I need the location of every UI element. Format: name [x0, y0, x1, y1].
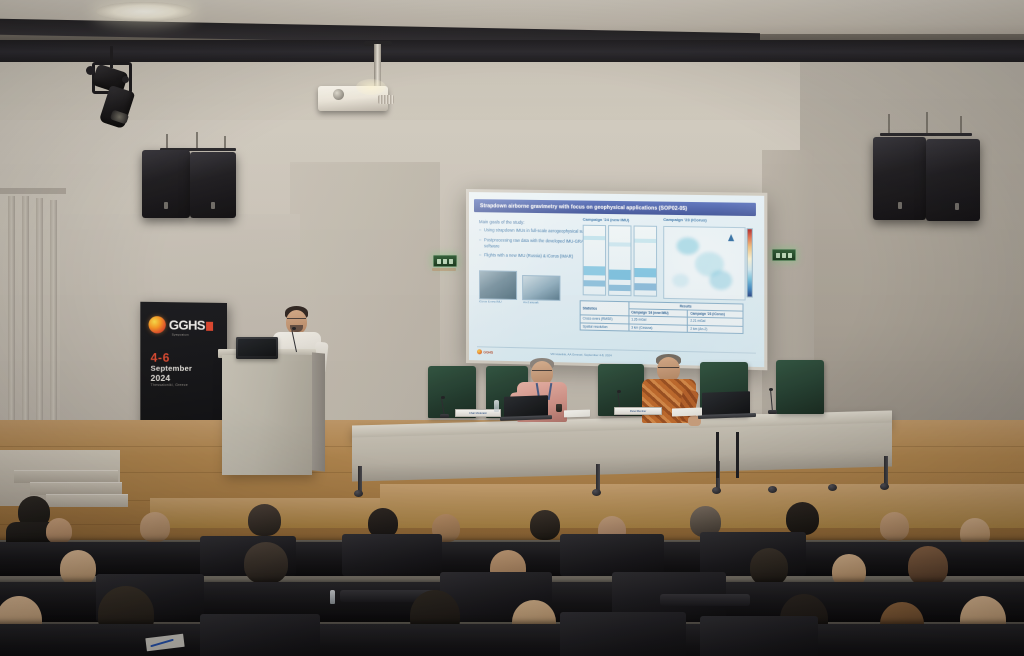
seat-armrest	[660, 594, 750, 606]
panelist-right-glasses	[658, 367, 679, 370]
table-caster	[880, 483, 889, 490]
slide-footer-text: VIII Hotelink, AA Gennari, September 4-8…	[550, 351, 611, 356]
audience-head	[908, 546, 948, 586]
banner-wordmark-text: GGHS	[169, 317, 205, 332]
slide-thumb-aircraft	[522, 275, 560, 301]
audience-head	[140, 512, 170, 542]
seat-back	[560, 612, 686, 656]
projector-vent	[378, 95, 394, 104]
gghs-globe-icon	[477, 349, 482, 354]
speaker-right-b	[926, 139, 980, 221]
chart-heading-23: Campaign '23 (iCorus)	[663, 217, 706, 223]
spotlight-knob	[122, 76, 129, 83]
map-anomaly	[672, 274, 688, 287]
panel-mic-base	[768, 410, 777, 414]
audience-head	[530, 510, 560, 540]
north-arrow-icon	[728, 234, 734, 241]
auditorium-photo: Strapdown airborne gravimetry with focus…	[0, 0, 1024, 656]
chair-leg	[716, 432, 719, 478]
audience-head	[786, 502, 819, 535]
audience-head	[750, 548, 788, 586]
panel-mic-head	[441, 396, 445, 399]
exit-sign-left-sub	[432, 268, 456, 271]
map-anomaly	[677, 237, 700, 255]
speaker-logo	[955, 203, 959, 210]
profile-strip-2	[608, 225, 631, 296]
globe-icon	[149, 316, 166, 333]
panel-mic-head	[617, 390, 621, 393]
table-leg	[358, 466, 362, 492]
table-leg	[884, 456, 888, 486]
banner-badge	[206, 322, 213, 331]
speaker-logo	[898, 202, 902, 209]
gghs-wordmark: GGHS	[483, 350, 493, 354]
papers	[564, 410, 590, 418]
panel-mic-head	[769, 388, 773, 391]
exit-glyph	[449, 259, 453, 264]
wall-trim	[0, 188, 66, 194]
panelist-left-glasses	[532, 370, 552, 373]
row-val-a: 3 km (Cessna)	[629, 324, 688, 333]
exit-sign-left	[433, 255, 457, 267]
row-val-b: 2 km (An-2)	[688, 325, 743, 333]
nameplate-1-text: Chair Moderator	[469, 412, 487, 415]
podium-side	[312, 352, 325, 471]
gravity-anomaly-map	[663, 226, 745, 301]
table-leg	[596, 464, 600, 492]
nameplate-2-text: Panel Member	[630, 410, 646, 413]
banner-wordmark: GGHS	[169, 317, 213, 333]
projection-screen: Strapdown airborne gravimetry with focus…	[466, 189, 767, 370]
exit-glyph	[443, 259, 447, 264]
slide-thumb-caption: An-2 aircraft	[523, 300, 538, 304]
chart-heading-24: Campaign '24 (new IMU)	[583, 217, 630, 223]
seat-back	[700, 616, 818, 656]
map-colorbar	[747, 228, 753, 297]
panel-chair-5	[776, 360, 824, 414]
chair-leg	[736, 432, 739, 478]
row-stat: Spatial resolution	[580, 322, 628, 330]
spotlight-knob	[86, 66, 95, 75]
audience-bottle	[330, 590, 335, 604]
map-anomaly	[709, 270, 732, 290]
projector-lens	[333, 89, 344, 100]
speaker-bracket	[880, 133, 972, 136]
presentation-slide: Strapdown airborne gravimetry with focus…	[469, 192, 764, 367]
papers	[672, 407, 702, 416]
seat-back	[342, 534, 442, 576]
presenter-glasses	[287, 318, 306, 321]
exit-glyph	[437, 259, 441, 264]
projector-glow	[356, 79, 386, 95]
exit-glyph	[776, 253, 780, 258]
profile-strip-1	[583, 225, 606, 296]
audience-head	[244, 542, 288, 584]
nameplate-2: Panel Member	[614, 407, 662, 415]
podium-microphone-head	[292, 327, 296, 330]
audience-head	[60, 550, 96, 586]
banner-location: Thessaloniki, Greece	[151, 383, 188, 387]
audience-head	[248, 504, 281, 536]
slide-title: Strapdown airborne gravimetry with focus…	[474, 199, 756, 216]
podium	[222, 355, 312, 475]
results-table: Statistics Results Campaign '24 (new IMU…	[580, 300, 744, 334]
gghs-logo-icon: GGHS	[477, 348, 493, 355]
banner-year: 2024	[151, 373, 171, 383]
seat-back	[200, 614, 320, 656]
audience-head	[46, 518, 72, 544]
col-statistics: Statistics	[580, 301, 628, 316]
panel-mic-base	[440, 414, 449, 418]
slide-thumb-caption: iCorus & new IMU	[479, 299, 502, 303]
exit-glyph	[788, 253, 792, 258]
water-bottle	[494, 400, 499, 412]
audience-head	[880, 512, 909, 541]
slide-footer: GGHS VIII Hotelink, AA Gennari, Septembe…	[477, 346, 756, 363]
profile-strip-3	[634, 225, 658, 296]
banner-date: 4-6	[151, 351, 170, 365]
right-wall	[800, 62, 1024, 462]
ceiling-light	[96, 2, 192, 21]
banner-subtitle: Symposium	[172, 334, 189, 337]
banner-logo: GGHS	[149, 316, 213, 334]
exit-sign-right	[772, 249, 796, 261]
slide-thumb-imu	[479, 270, 517, 300]
audience-area	[0, 490, 1024, 656]
exit-glyph	[782, 253, 786, 258]
speaker-logo	[164, 202, 168, 209]
coffee-cup	[556, 404, 562, 412]
speaker-logo	[211, 202, 215, 209]
banner-month: September	[151, 364, 193, 373]
seat-back	[560, 534, 664, 576]
podium-laptop	[236, 337, 278, 359]
